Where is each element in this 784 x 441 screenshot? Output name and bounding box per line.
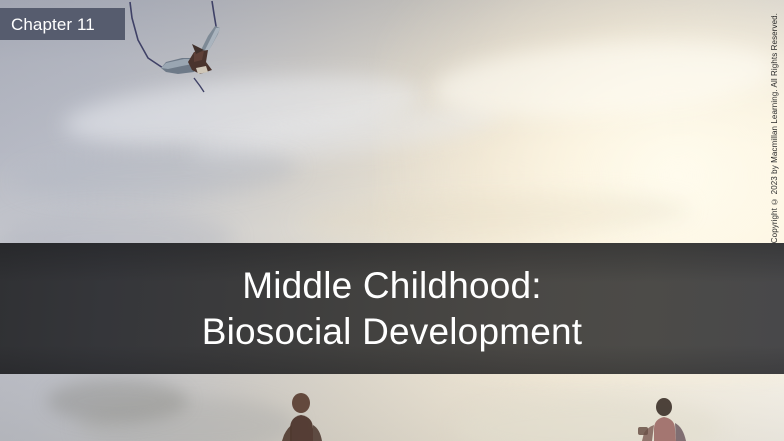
silhouette-person-left — [272, 391, 336, 441]
background-photo — [0, 0, 784, 441]
copyright-notice: Copyright © 2023 by Macmillan Learning. … — [766, 0, 784, 243]
title-banner: Middle Childhood: Biosocial Development — [0, 243, 784, 374]
slide-title-line-2: Biosocial Development — [202, 309, 583, 355]
silhouette-person-right — [636, 397, 696, 441]
copyright-text: Copyright © 2023 by Macmillan Learning. … — [770, 7, 780, 243]
chapter-tag: Chapter 11 — [0, 8, 125, 40]
presentation-slide: Chapter 11 Middle Childhood: Biosocial D… — [0, 0, 784, 441]
slide-title-line-1: Middle Childhood: — [242, 263, 542, 309]
chapter-tag-label: Chapter 11 — [11, 16, 95, 33]
bird-kite-icon — [108, 0, 278, 105]
